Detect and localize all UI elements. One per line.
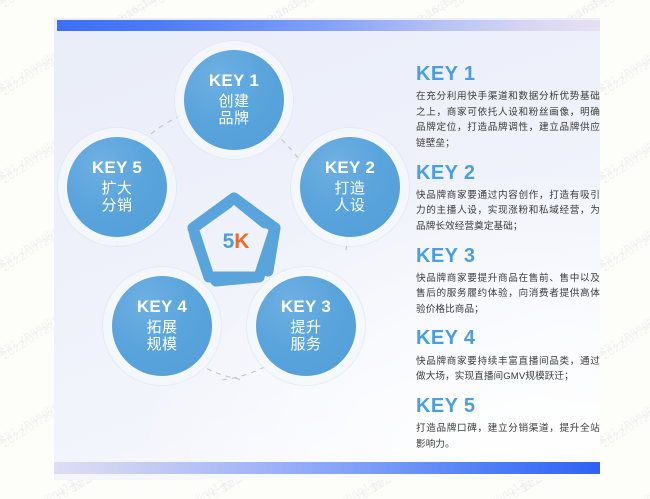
bottom-gradient-bar: [54, 462, 600, 474]
key-title-3: KEY 3: [416, 244, 604, 268]
diagram-node-key-1[interactable]: KEY 1 创建 品牌: [184, 50, 284, 150]
node-line1: 打造: [334, 180, 365, 197]
node-line1: 创建: [218, 93, 249, 110]
logo-letter-k: K: [234, 230, 249, 254]
node-line2: 分销: [101, 197, 132, 214]
diagram-node-key-2[interactable]: KEY 2 打造 人设: [300, 137, 400, 237]
node-key-label: KEY 1: [209, 72, 259, 90]
node-line1: 扩大: [101, 180, 132, 197]
key-desc-3: 快品牌商家要提升商品在售前、售中以及售后的服务履约体验，向消费者提供高体验价格比…: [416, 271, 600, 318]
pentagon-spiral-logo-icon: 5K: [176, 182, 292, 298]
node-line2: 品牌: [218, 110, 249, 127]
node-line1: 提升: [290, 319, 321, 336]
node-key-label: KEY 4: [137, 298, 187, 316]
diagram-node-key-5[interactable]: KEY 5 扩大 分销: [67, 137, 167, 237]
logo-digit-5: 5: [223, 230, 235, 254]
slide-stage: KEY 1 创建 品牌 KEY 2 打造 人设 KEY 3 提升 服务 KEY …: [0, 0, 650, 499]
key-desc-5: 打造品牌口碑，建立分销渠道，提升全站影响力。: [416, 421, 600, 452]
node-line2: 人设: [334, 197, 365, 214]
key-block-1: KEY 1 在充分利用快手渠道和数据分析优势基础之上，商家可依托人设和粉丝画像，…: [416, 62, 604, 152]
pentagon-diagram: KEY 1 创建 品牌 KEY 2 打造 人设 KEY 3 提升 服务 KEY …: [54, 32, 414, 442]
key-descriptions-list: KEY 1 在充分利用快手渠道和数据分析优势基础之上，商家可依托人设和粉丝画像，…: [416, 62, 604, 452]
key-title-5: KEY 5: [416, 394, 604, 418]
top-gradient-bar: [57, 20, 600, 31]
key-desc-4: 快品牌商家要持续丰富直播间品类，通过做大场，实现直播间GMV规模跃迁；: [416, 354, 600, 385]
node-key-label: KEY 5: [92, 159, 142, 177]
key-title-2: KEY 2: [416, 161, 604, 185]
node-line1: 拓展: [146, 319, 177, 336]
key-desc-2: 快品牌商家要通过内容创作，打造有吸引力的主播人设，实现涨粉和私域经营，为品牌长效…: [416, 188, 600, 235]
key-title-1: KEY 1: [416, 62, 604, 86]
key-block-5: KEY 5 打造品牌口碑，建立分销渠道，提升全站影响力。: [416, 394, 604, 452]
key-block-3: KEY 3 快品牌商家要提升商品在售前、售中以及售后的服务履约体验，向消费者提供…: [416, 244, 604, 318]
node-line2: 规模: [146, 336, 177, 353]
logo-5k-text: 5K: [176, 182, 292, 298]
node-line2: 服务: [290, 336, 321, 353]
node-key-label: KEY 2: [325, 159, 375, 177]
key-title-4: KEY 4: [416, 326, 604, 350]
node-key-label: KEY 3: [281, 298, 331, 316]
key-block-2: KEY 2 快品牌商家要通过内容创作，打造有吸引力的主播人设，实现涨粉和私域经营…: [416, 161, 604, 235]
key-block-4: KEY 4 快品牌商家要持续丰富直播间品类，通过做大场，实现直播间GMV规模跃迁…: [416, 326, 604, 384]
key-desc-1: 在充分利用快手渠道和数据分析优势基础之上，商家可依托人设和粉丝画像，明确品牌定位…: [416, 89, 600, 151]
